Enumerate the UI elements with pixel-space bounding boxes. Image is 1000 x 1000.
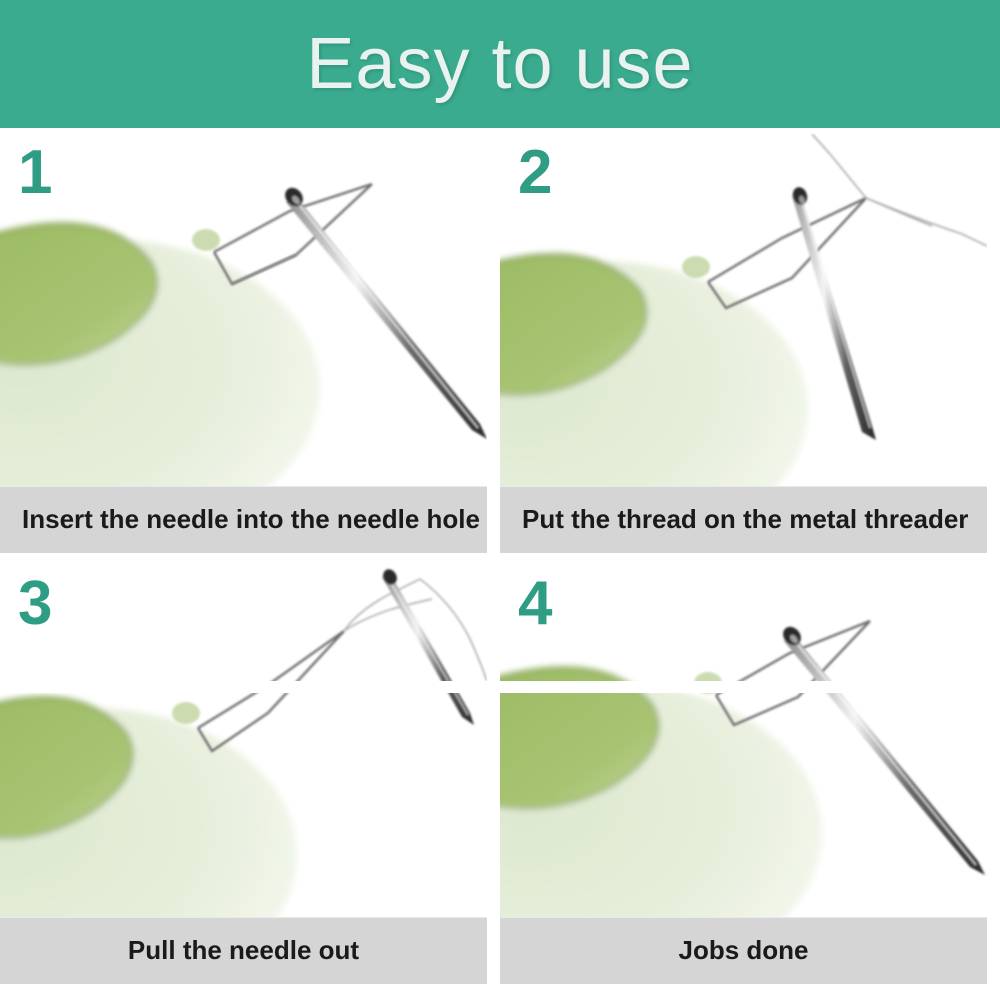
step-caption-bar-2: Put the thread on the metal threader bbox=[500, 486, 987, 553]
step-number-3: 3 bbox=[18, 573, 52, 635]
step-caption-text-4: Jobs done bbox=[678, 935, 808, 966]
step-photo-1 bbox=[0, 134, 487, 486]
threader-illustration-4 bbox=[500, 565, 987, 917]
step-number-4: 4 bbox=[518, 573, 552, 635]
step-photo-2 bbox=[500, 134, 987, 486]
header-banner: Easy to use bbox=[0, 0, 1000, 128]
step-caption-bar-4: Jobs done bbox=[500, 917, 987, 984]
step-caption-text-1: Insert the needle into the needle hole bbox=[22, 504, 480, 535]
step-photo-4 bbox=[500, 565, 987, 917]
steps-grid: 1 Insert the needle into the needle hole bbox=[0, 128, 1000, 1000]
vertical-gutter bbox=[487, 256, 500, 1000]
step-panel-1: 1 Insert the needle into the needle hole bbox=[0, 134, 487, 553]
step-number-1: 1 bbox=[18, 142, 52, 204]
step-photo-3 bbox=[0, 565, 487, 917]
right-margin bbox=[994, 128, 1000, 1000]
step-caption-bar-3: Pull the needle out bbox=[0, 917, 487, 984]
page-title: Easy to use bbox=[306, 28, 693, 100]
step-caption-text-3: Pull the needle out bbox=[128, 935, 359, 966]
bottom-margin bbox=[0, 992, 1000, 1000]
step-panel-3: 3 Pull the needle out bbox=[0, 565, 487, 984]
threader-illustration-1 bbox=[0, 134, 487, 486]
threader-illustration-2 bbox=[500, 134, 987, 486]
step-panel-2: 2 Put the thread on the metal threader bbox=[500, 134, 987, 553]
horizontal-gutter bbox=[0, 681, 1000, 693]
step-caption-bar-1: Insert the needle into the needle hole bbox=[0, 486, 487, 553]
threader-illustration-3 bbox=[0, 565, 487, 917]
step-panel-4: 4 Jobs done bbox=[500, 565, 987, 984]
infographic-page: Easy to use bbox=[0, 0, 1000, 1000]
step-caption-text-2: Put the thread on the metal threader bbox=[522, 504, 968, 535]
step-number-2: 2 bbox=[518, 142, 552, 204]
